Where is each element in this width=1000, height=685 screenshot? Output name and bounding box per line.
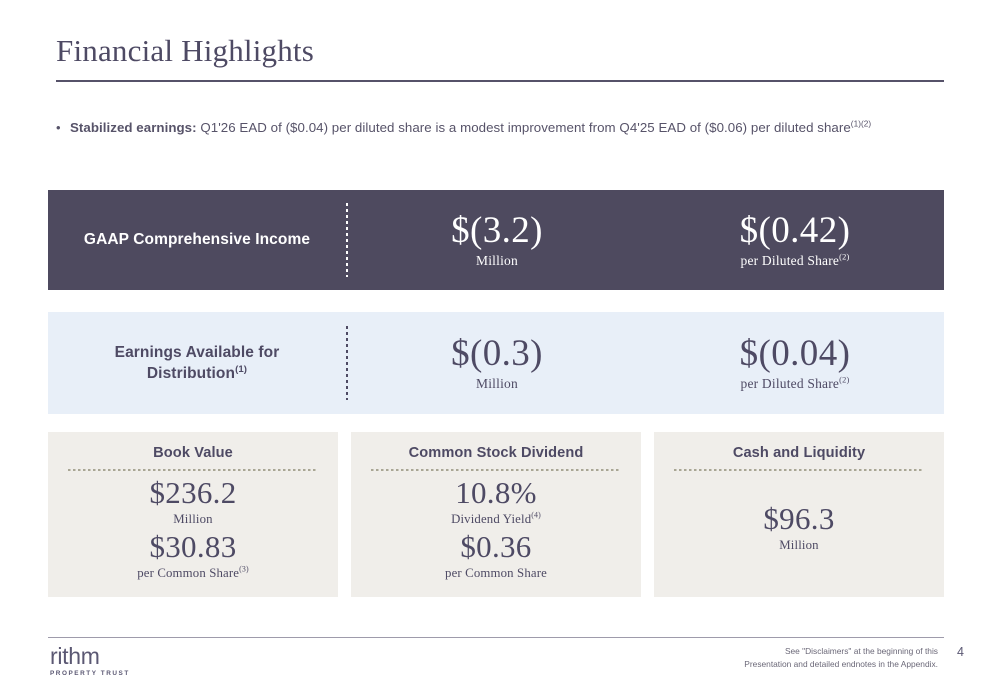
band-metric-caption: Million [348,376,646,392]
band-metric-caption: per Diluted Share(2) [646,253,944,269]
card-metric-caption: Dividend Yield(4) [451,512,541,527]
band-caption-text: Million [476,253,518,268]
bullet-lead: Stabilized earnings: [70,120,197,135]
card-body: $96.3 Million [674,471,924,585]
card-metric: $0.36 per Common Share [445,531,547,581]
band-metric: $(0.3) Million [348,334,646,393]
band-metric-caption: Million [348,253,646,269]
bullet-footnote: (1)(2) [851,120,871,129]
band-metric: $(0.04) per Diluted Share(2) [646,334,944,393]
card-metric-caption: Million [149,512,236,527]
card-metric-value: $96.3 [763,503,834,536]
card-metric-value: $30.83 [137,531,249,564]
footer-divider [48,637,944,638]
card-caption-footnote: (4) [531,511,541,520]
band-label-footnote: (1) [235,364,247,375]
card-cash-and-liquidity: Cash and Liquidity $96.3 Million [654,432,944,597]
card-title: Cash and Liquidity [733,445,865,461]
card-caption-text: Dividend Yield [451,512,531,526]
card-metric-value: 10.8% [451,477,541,510]
band-caption-footnote: (2) [839,253,849,262]
card-metric-caption: per Common Share(3) [137,566,249,581]
card-metric-value: $236.2 [149,477,236,510]
card-caption-footnote: (3) [239,565,249,574]
card-caption-text: Million [173,512,212,526]
band-caption-text: Million [476,376,518,391]
footer-disclaimer-line1: See "Disclaimers" at the beginning of th… [744,645,938,658]
band-metric-value: $(0.42) [646,211,944,251]
band-metric-value: $(0.04) [646,334,944,374]
metric-band-ead: Earnings Available for Distribution(1) $… [48,312,944,414]
card-metric-caption: per Common Share [445,566,547,581]
company-logo: rithm PROPERTY TRUST [50,645,130,677]
band-metrics-ead: $(0.3) Million $(0.04) per Diluted Share… [348,334,944,393]
band-metric-value: $(3.2) [348,211,646,251]
card-metric-caption: Million [763,538,834,553]
band-metrics-gaap: $(3.2) Million $(0.42) per Diluted Share… [348,211,944,270]
card-metric: $30.83 per Common Share(3) [137,531,249,581]
band-caption-text: per Diluted Share [741,253,840,268]
band-label-ead: Earnings Available for Distribution(1) [48,342,346,385]
logo-tagline: PROPERTY TRUST [50,670,130,677]
title-divider [56,80,944,82]
metric-card-group: Book Value $236.2 Million $30.83 per Com… [48,432,944,597]
card-title: Book Value [153,445,233,461]
footer-disclaimer-line2: Presentation and detailed endnotes in th… [744,658,938,671]
card-caption-text: per Common Share [137,566,239,580]
page-number: 4 [957,645,964,659]
band-label-text: Earnings Available for Distribution [115,344,280,382]
card-metric: 10.8% Dividend Yield(4) [451,477,541,527]
metric-band-gaap: GAAP Comprehensive Income $(3.2) Million… [48,190,944,290]
band-metric: $(3.2) Million [348,211,646,270]
card-body: $236.2 Million $30.83 per Common Share(3… [68,471,318,585]
band-metric-caption: per Diluted Share(2) [646,376,944,392]
footer-disclaimer: See "Disclaimers" at the beginning of th… [744,645,938,670]
bullet-item: • Stabilized earnings: Q1'26 EAD of ($0.… [56,118,944,137]
band-caption-footnote: (2) [839,376,849,385]
band-label-gaap: GAAP Comprehensive Income [48,229,346,250]
card-metric: $236.2 Million [149,477,236,527]
logo-wordmark: rithm [50,645,130,668]
band-label-text: GAAP Comprehensive Income [84,231,310,248]
card-common-stock-dividend: Common Stock Dividend 10.8% Dividend Yie… [351,432,641,597]
band-metric-value: $(0.3) [348,334,646,374]
band-caption-text: per Diluted Share [741,376,840,391]
card-caption-text: Million [779,538,818,552]
card-caption-text: per Common Share [445,566,547,580]
bullet-text: Stabilized earnings: Q1'26 EAD of ($0.04… [70,118,871,137]
slide: Financial Highlights • Stabilized earnin… [0,0,1000,685]
bullet-marker: • [56,118,70,137]
card-book-value: Book Value $236.2 Million $30.83 per Com… [48,432,338,597]
band-metric: $(0.42) per Diluted Share(2) [646,211,944,270]
card-metric: $96.3 Million [763,503,834,553]
bullet-body: Q1'26 EAD of ($0.04) per diluted share i… [197,120,851,135]
card-metric-value: $0.36 [445,531,547,564]
page-title: Financial Highlights [56,34,944,68]
title-block: Financial Highlights [56,34,944,82]
card-title: Common Stock Dividend [409,445,584,461]
card-body: 10.8% Dividend Yield(4) $0.36 per Common… [371,471,621,585]
